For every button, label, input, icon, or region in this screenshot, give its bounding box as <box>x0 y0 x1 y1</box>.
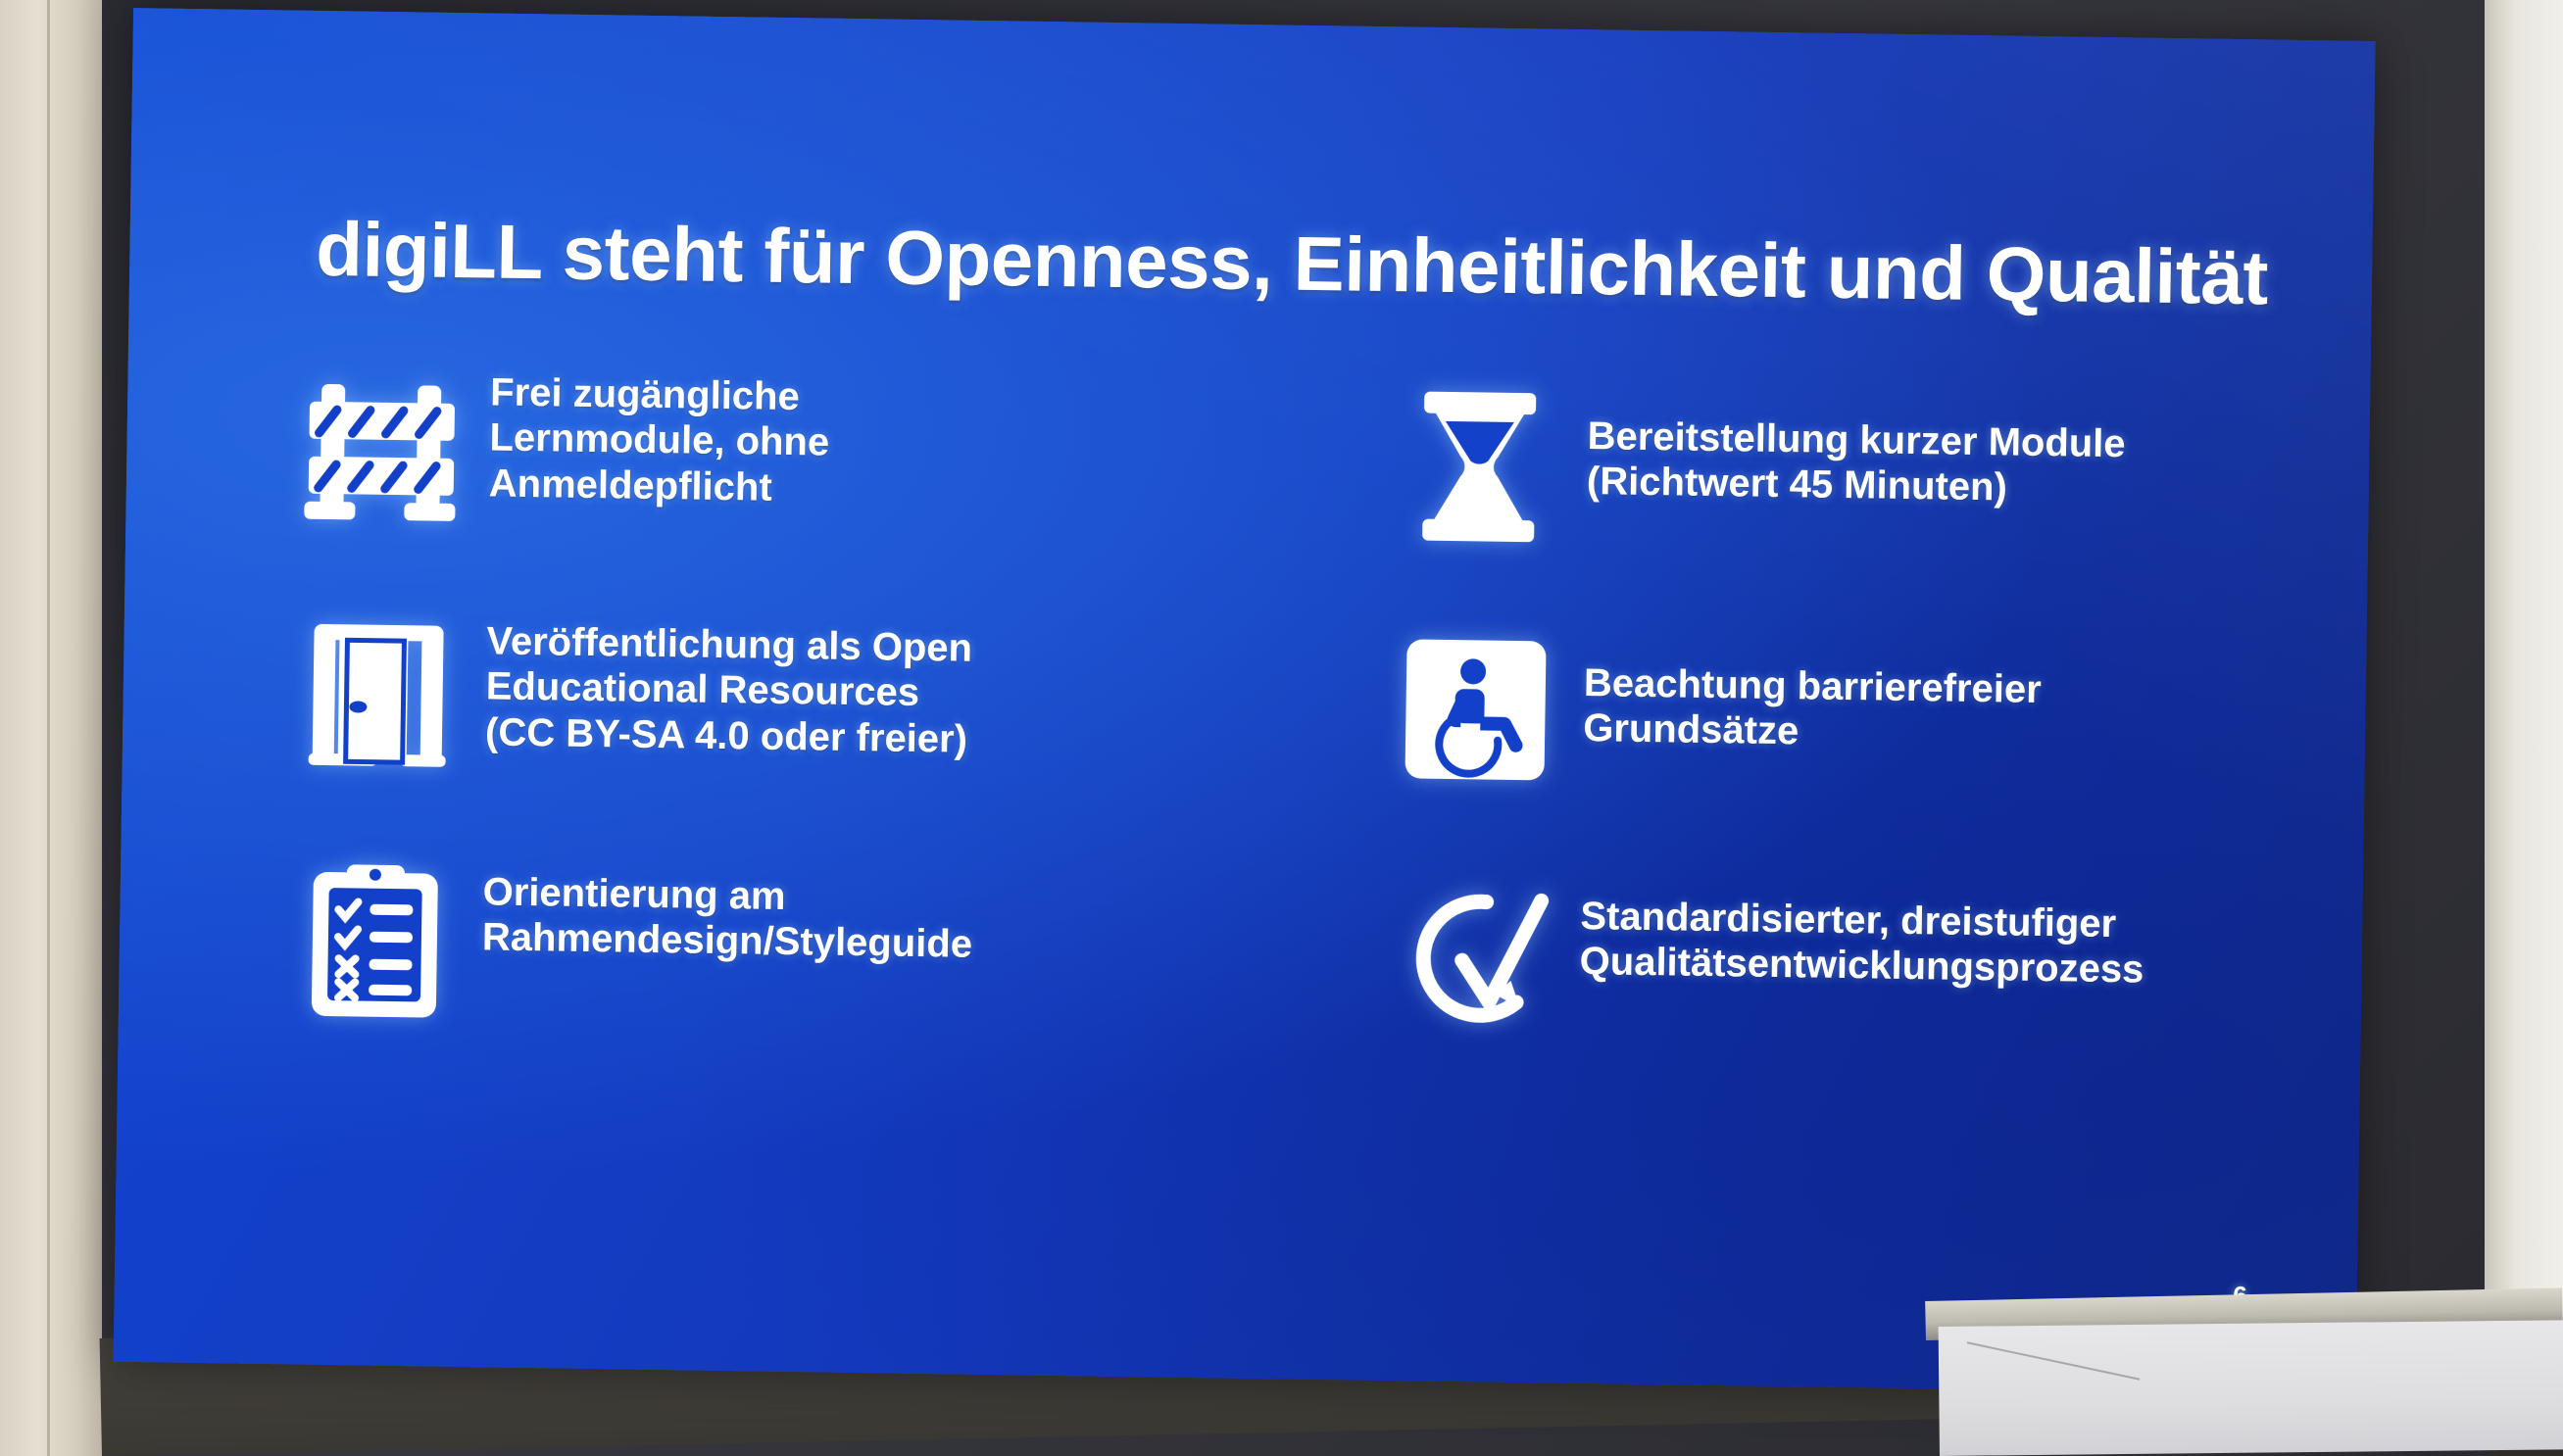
hourglass-icon <box>1370 379 1589 554</box>
wheelchair-accessibility-icon <box>1366 622 1585 797</box>
feature-text-line: Bereitstellung kurzer Module <box>1587 413 2126 467</box>
feature-grid: Frei zugängliche Lernmodule, ohne Anmeld… <box>265 363 2294 1127</box>
projection-screen: digiLL steht für Openness, Einheitlichke… <box>113 8 2375 1395</box>
feature-item-accessibility: Beachtung barrierefreier Grundsätze <box>1306 621 2291 883</box>
feature-text-line: Orientierung am <box>482 869 973 922</box>
feature-text: Standardisierter, dreistufiger Qualitäts… <box>1579 872 2144 993</box>
road-barrier-icon <box>272 363 491 537</box>
page-title: digiLL steht für Openness, Einheitlichke… <box>316 205 2277 323</box>
feature-text-line: Educational Resources <box>485 664 971 717</box>
feature-text-line: Grundsätze <box>1583 705 2041 757</box>
feature-text: Bereitstellung kurzer Module (Richtwert … <box>1587 382 2127 512</box>
open-door-icon <box>269 606 487 780</box>
feature-text: Frei zugängliche Lernmodule, ohne Anmeld… <box>488 365 830 510</box>
clipboard-checklist-icon <box>266 852 484 1027</box>
feature-text-line: Frei zugängliche <box>490 369 830 420</box>
feature-item-short-modules: Bereitstellung kurzer Module (Richtwert … <box>1310 378 2294 636</box>
wall-right <box>2485 0 2563 1401</box>
photographed-room-scene: digiLL steht für Openness, Einheitlichke… <box>0 0 2563 1456</box>
feature-item-styleguide: Orientierung am Rahmendesign/Styleguide <box>265 852 1307 1113</box>
flipchart-paper <box>1939 1320 2563 1456</box>
feature-text: Beachtung barrierefreier Grundsätze <box>1583 625 2043 758</box>
check-cycle-icon <box>1363 869 1582 1043</box>
feature-text-line: Qualitätsentwicklungsprozess <box>1579 939 2144 993</box>
feature-text-line: (CC BY-SA 4.0 oder freier) <box>485 709 971 762</box>
feature-text: Orientierung am Rahmendesign/Styleguide <box>482 855 974 967</box>
feature-text-line: Beachtung barrierefreier <box>1584 660 2042 712</box>
feature-text-line: Lernmodule, ohne <box>489 415 829 466</box>
feature-item-open-access: Frei zugängliche Lernmodule, ohne Anmeld… <box>271 363 1314 621</box>
feature-text-line: (Richtwert 45 Minuten) <box>1587 459 2126 512</box>
feature-text-line: Rahmendesign/Styleguide <box>482 915 973 968</box>
wall-left <box>0 0 106 1456</box>
feature-text-line: Anmeldepflicht <box>488 461 828 511</box>
presentation-slide: digiLL steht für Openness, Einheitlichke… <box>113 8 2375 1395</box>
feature-item-quality-process: Standardisierter, dreistufiger Qualitäts… <box>1303 868 2287 1128</box>
feature-item-oer-licence: Veröffentlichung als Open Educational Re… <box>268 606 1310 868</box>
feature-text: Veröffentlichung als Open Educational Re… <box>485 608 973 762</box>
flipchart-board <box>1926 1260 2563 1456</box>
feature-text-line: Veröffentlichung als Open <box>486 618 972 671</box>
